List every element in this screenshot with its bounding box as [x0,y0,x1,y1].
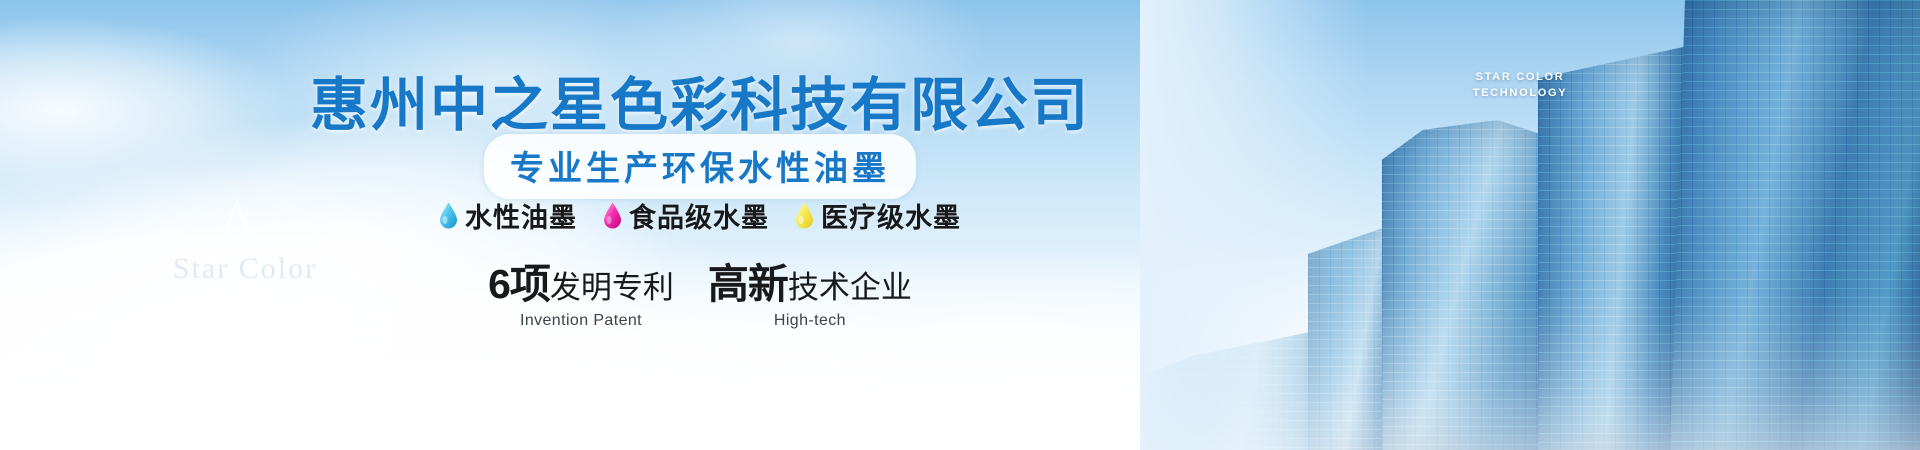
feature-list: 水性油墨 [0,196,1400,235]
badge-cn-big: 高新 [708,261,788,307]
badge-cn-big: 6项 [488,261,550,307]
brand-logo-mark: STAR COLOR TECHNOLOGY [1455,70,1585,102]
badge-english-text: High-tech [708,312,912,330]
water-drop-icon [439,202,458,229]
brand-logo-line-2: TECHNOLOGY [1455,86,1585,102]
brand-logo-line-1: STAR COLOR [1455,70,1585,86]
badge-english-text: Invention Patent [488,312,674,330]
company-title: 惠州中之星色彩科技有限公司 [0,58,1400,142]
badge-chinese-text: 6项发明专利 [488,262,674,308]
water-drop-icon [795,202,814,229]
feature-item: 食品级水墨 [603,196,769,235]
feature-label: 水性油墨 [465,196,577,235]
badge-cn-small: 发明专利 [550,270,674,305]
water-drop-icon [603,202,622,229]
badge-invention-patent: 6项发明专利 Invention Patent [488,262,674,330]
subtitle-pill: 专业生产环保水性油墨 [484,134,916,199]
feature-item: 水性油墨 [439,196,577,235]
badge-cn-small: 技术企业 [788,270,912,305]
badge-chinese-text: 高新技术企业 [708,262,912,308]
promo-banner: STAR COLOR TECHNOLOGY Star Color 惠州中之星色彩… [0,0,1920,450]
subtitle-row: 专业生产环保水性油墨 [0,134,1400,199]
badge-list: 6项发明专利 Invention Patent 高新技术企业 High-tech [0,262,1400,330]
feature-label: 医疗级水墨 [821,196,961,235]
badge-high-tech: 高新技术企业 High-tech [708,262,912,330]
feature-item: 医疗级水墨 [795,196,961,235]
feature-label: 食品级水墨 [629,196,769,235]
